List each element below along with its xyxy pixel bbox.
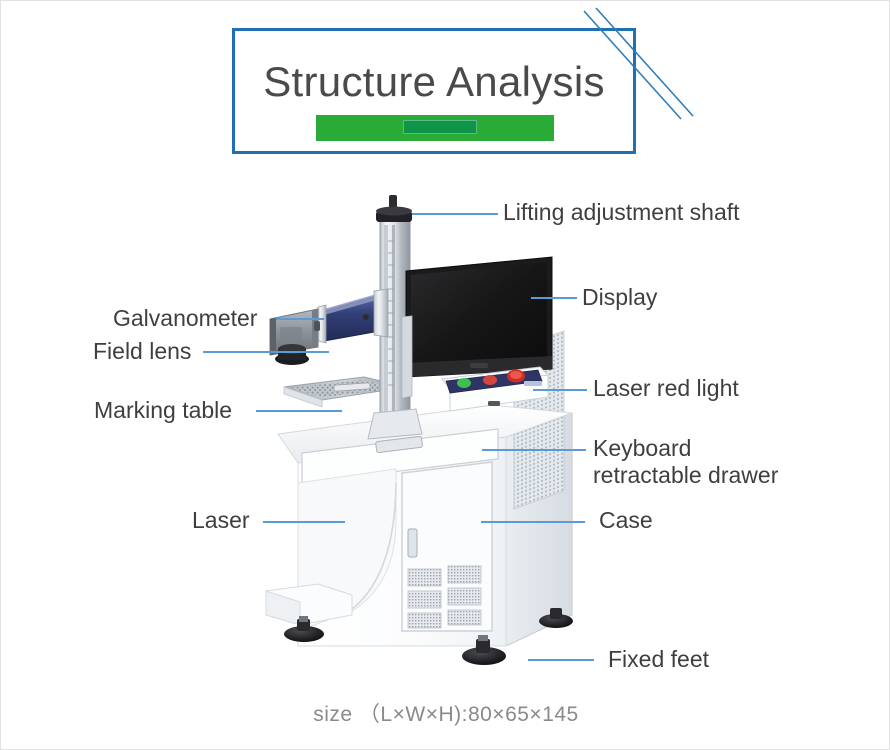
label-field-lens: Field lens <box>93 338 191 365</box>
title-accent-bar-inner <box>403 120 477 134</box>
adjustment-knob[interactable] <box>376 195 412 222</box>
laser-body <box>318 289 388 343</box>
label-lifting-adjustment-shaft: Lifting adjustment shaft <box>503 199 740 226</box>
leader-case <box>481 521 585 523</box>
label-galvanometer: Galvanometer <box>113 305 257 332</box>
label-laser-red-light: Laser red light <box>593 375 739 402</box>
label-keyboard-retractable-drawer: Keyboard retractable drawer <box>593 435 778 489</box>
diagram-page: Structure Analysis <box>0 0 890 750</box>
label-keyboard-line1: Keyboard <box>593 435 691 461</box>
leader-laser-red-light <box>533 389 587 391</box>
label-laser: Laser <box>192 507 250 534</box>
red-button <box>483 375 497 385</box>
leader-galvanometer <box>276 318 324 320</box>
leader-keyboard-drawer <box>482 449 586 451</box>
label-keyboard-line2: retractable drawer <box>593 462 778 488</box>
leader-lifting-adjustment-shaft <box>412 213 498 215</box>
leader-marking-table <box>256 410 342 412</box>
cabinet-door[interactable] <box>402 462 492 631</box>
leader-fixed-feet <box>528 659 594 661</box>
laser-marking-machine-illustration <box>256 191 596 671</box>
label-case: Case <box>599 507 653 534</box>
field-lens <box>275 344 309 365</box>
label-display: Display <box>582 284 657 311</box>
label-marking-table: Marking table <box>94 397 232 424</box>
label-fixed-feet: Fixed feet <box>608 646 709 673</box>
leader-display <box>531 297 577 299</box>
size-caption: size （L×W×H):80×65×145 <box>1 698 890 728</box>
leader-laser <box>263 521 345 523</box>
leader-field-lens <box>203 351 329 353</box>
green-button <box>457 378 471 388</box>
page-title: Structure Analysis <box>232 56 636 108</box>
